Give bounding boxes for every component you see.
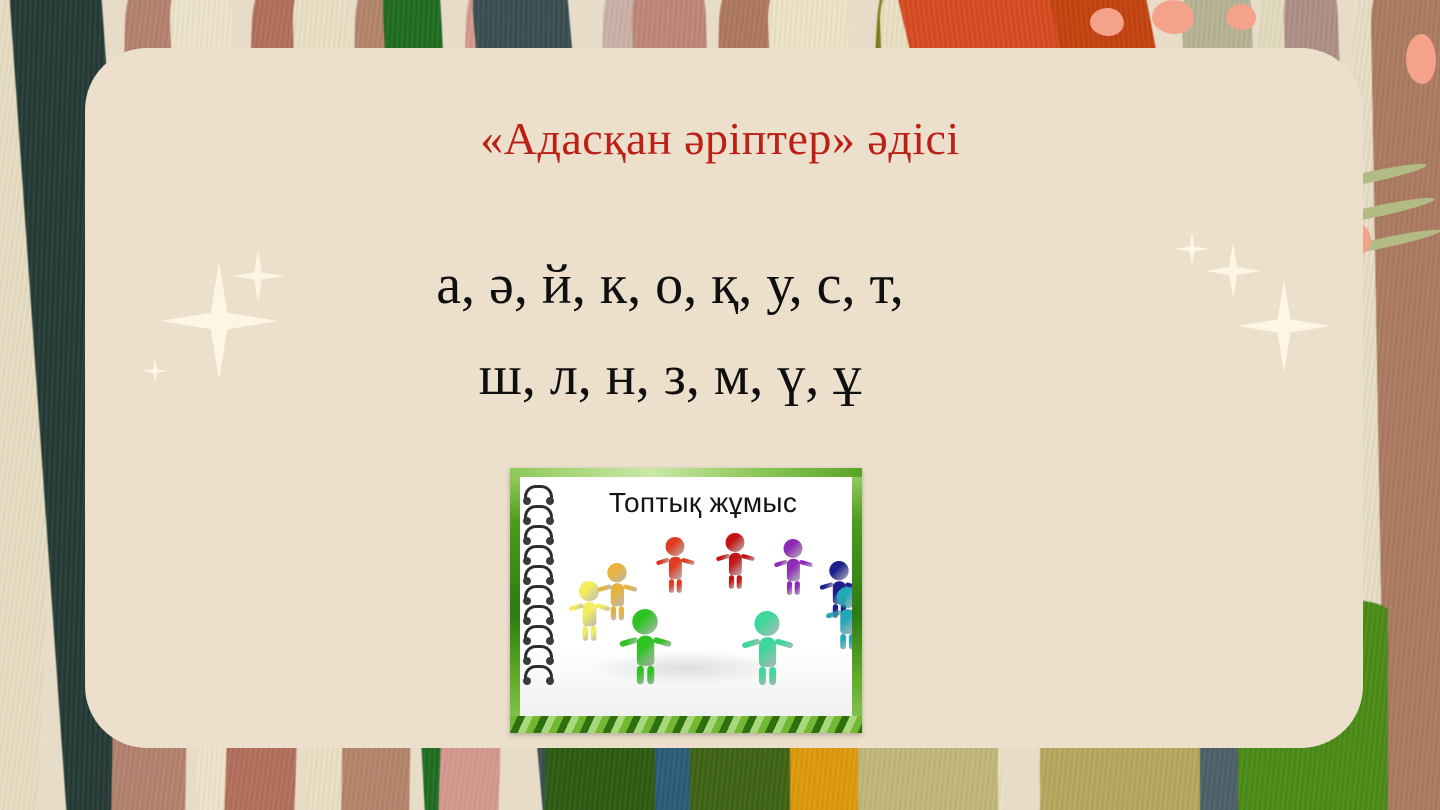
figure-leg-left — [610, 606, 615, 620]
figure-leg-right — [769, 667, 776, 685]
person-figure — [750, 611, 784, 685]
spiral-ring-icon — [524, 625, 553, 642]
letters-line-1: а, ә, й, к, о, қ, у, с, т, — [170, 240, 1170, 331]
figure-leg-right — [736, 575, 741, 589]
figure-leg-right — [676, 579, 681, 593]
figure-leg-right — [590, 626, 596, 641]
notebook-top-border — [510, 468, 862, 477]
mushroom-dot-2 — [1226, 4, 1256, 30]
figure-leg-left — [582, 626, 588, 641]
spiral-ring-icon — [524, 485, 553, 502]
figure-body — [610, 583, 623, 606]
figure-legs — [610, 606, 623, 620]
figure-leg-right — [794, 581, 799, 595]
figure-body — [636, 636, 653, 666]
figure-head — [607, 563, 626, 582]
figure-leg-left — [840, 634, 846, 649]
figure-body — [758, 637, 775, 667]
figure-leg-left — [636, 666, 643, 685]
figure-arm-left — [618, 637, 637, 648]
spiral-ring-icon — [524, 505, 553, 522]
figure-arm-right — [798, 560, 812, 568]
letters-block: а, ә, й, к, о, қ, у, с, т, ш, л, н, з, м… — [170, 240, 1170, 421]
person-figure — [833, 587, 852, 649]
person-figure — [575, 581, 603, 641]
figure-legs — [669, 579, 682, 593]
mushroom-dot-1 — [1152, 0, 1194, 34]
group-work-image-card: Топтық жұмыс — [510, 468, 862, 733]
spiral-ring-icon — [524, 605, 553, 622]
figure-body — [582, 602, 596, 626]
figure-leg-right — [618, 606, 623, 620]
figure-arm-right — [622, 584, 637, 592]
notebook-bottom-border — [510, 716, 862, 733]
figure-arm-right — [680, 558, 694, 566]
notebook-page: Топтық жұмыс — [520, 477, 852, 719]
figure-leg-right — [647, 666, 654, 685]
spiral-binding-icon — [523, 483, 549, 713]
person-figure — [722, 533, 748, 589]
figure-arm-right — [774, 638, 793, 649]
figure-legs — [636, 666, 653, 685]
figure-arm-right — [740, 554, 754, 562]
person-figure — [628, 609, 663, 684]
figure-head — [726, 533, 745, 552]
spiral-ring-icon — [524, 585, 553, 602]
figure-leg-left — [787, 581, 792, 595]
figure-head — [784, 539, 803, 558]
figure-head — [754, 611, 779, 636]
figure-leg-right — [848, 634, 852, 649]
mushroom-dot-5 — [1406, 34, 1436, 84]
figure-arm-right — [652, 637, 671, 648]
figure-arm-left — [741, 638, 760, 649]
page-title: «Адасқан әріптер» әдісі — [0, 112, 1440, 165]
person-figure — [780, 539, 806, 595]
figure-head — [632, 609, 658, 635]
figure-legs — [758, 667, 775, 685]
figure-arm-left — [773, 560, 787, 568]
figure-legs — [840, 634, 852, 649]
slide-canvas: «Адасқан әріптер» әдісі а, ә, й, к, о, қ… — [0, 0, 1440, 810]
person-figure — [662, 537, 688, 593]
figure-body — [840, 609, 852, 634]
figure-head — [666, 537, 685, 556]
figure-legs — [729, 575, 742, 589]
figure-arm-left — [655, 558, 669, 566]
spiral-ring-icon — [524, 565, 553, 582]
figure-leg-left — [669, 579, 674, 593]
figure-legs — [582, 626, 596, 641]
figure-legs — [787, 581, 800, 595]
letters-line-2: ш, л, н, з, м, ү, ұ — [170, 331, 1170, 422]
figure-arm-left — [715, 554, 729, 562]
spiral-ring-icon — [524, 525, 553, 542]
spiral-ring-icon — [524, 665, 553, 682]
figure-leg-left — [729, 575, 734, 589]
mushroom-dot-0 — [1090, 8, 1124, 36]
figure-arm-left — [568, 603, 583, 611]
figure-head — [836, 587, 852, 608]
person-figure — [604, 563, 630, 620]
spiral-ring-icon — [524, 645, 553, 662]
figure-head — [579, 581, 599, 601]
figure-body — [669, 557, 682, 579]
people-circle-illustration — [556, 525, 848, 715]
figure-body — [787, 559, 800, 581]
figure-leg-left — [758, 667, 765, 685]
figure-body — [729, 553, 742, 575]
image-caption: Топтық жұмыс — [560, 487, 846, 519]
figure-arm-left — [819, 582, 834, 590]
figure-head — [829, 561, 848, 580]
spiral-ring-icon — [524, 545, 553, 562]
